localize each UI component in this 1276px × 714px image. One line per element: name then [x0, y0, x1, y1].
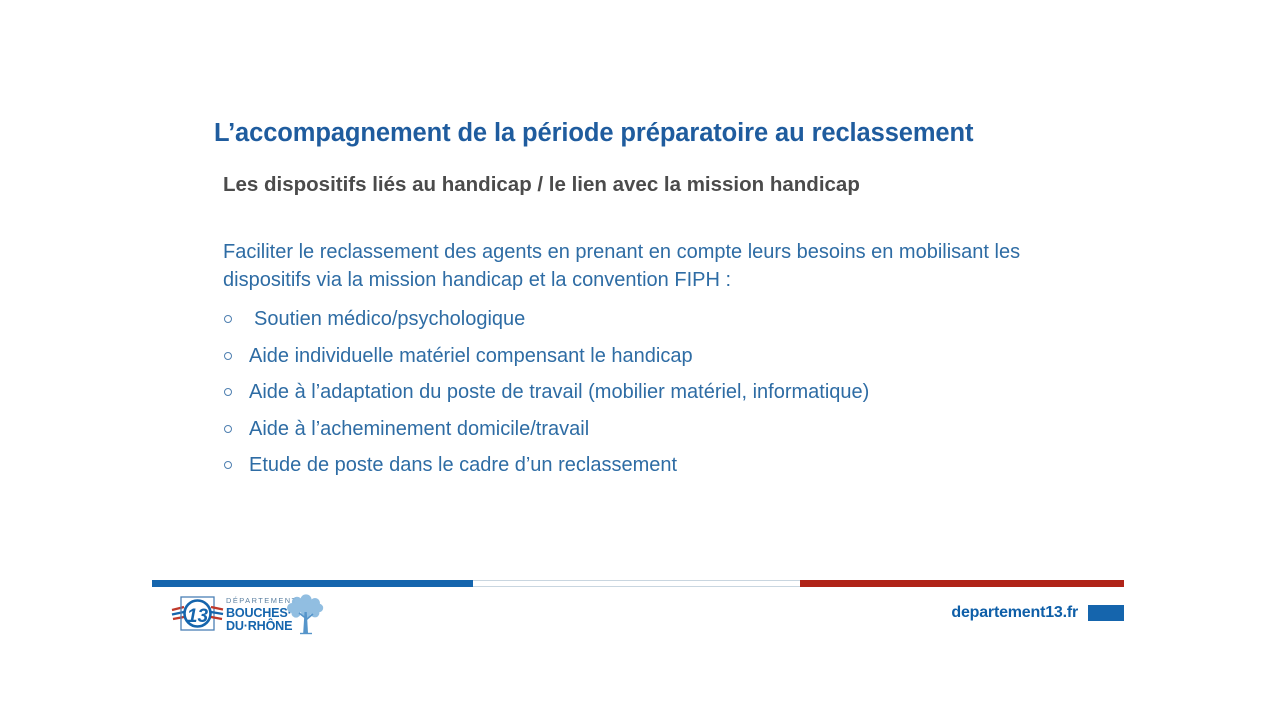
list-item-label: Etude de poste dans le cadre d’un reclas… [249, 455, 677, 475]
page-subtitle: Les dispositifs liés au handicap / le li… [223, 173, 1103, 197]
list-item-label: Aide à l’adaptation du poste de travail … [249, 382, 869, 402]
list-item: Etude de poste dans le cadre d’un reclas… [223, 447, 1123, 484]
list-item-label: Aide à l’acheminement domicile/travail [249, 419, 589, 439]
website-footer[interactable]: departement13.fr [951, 604, 1124, 622]
logo-line3: DU·RHÔNE [226, 618, 292, 633]
logo-number: 13 [187, 606, 209, 627]
list-item: Aide à l’acheminement domicile/travail [223, 411, 1123, 448]
circle-bullet-icon [224, 352, 232, 360]
list-item-label: Soutien médico/psychologique [249, 309, 525, 329]
logo-line2: BOUCHES· [226, 606, 292, 620]
tree-icon [287, 594, 323, 633]
departement-logo: 13 DÉPARTEMENT BOUCHES· DU·RHÔNE [170, 592, 330, 636]
list-item: Aide individuelle matériel compensant le… [223, 338, 1123, 375]
page-title: L’accompagnement de la période préparato… [214, 119, 1094, 148]
circle-bullet-icon [224, 425, 232, 433]
tricolor-blue-segment [152, 580, 473, 587]
circle-bullet-icon [224, 315, 232, 323]
tricolor-divider [152, 580, 1124, 587]
list-item-label: Aide individuelle matériel compensant le… [249, 346, 693, 366]
tricolor-white-segment [473, 580, 800, 587]
logo-line1: DÉPARTEMENT [226, 596, 298, 605]
lead-paragraph: Faciliter le reclassement des agents en … [223, 238, 1059, 295]
website-label[interactable]: departement13.fr [951, 604, 1078, 622]
ribbon-right-icon [211, 607, 223, 619]
slide-canvas: L’accompagnement de la période préparato… [0, 0, 1276, 714]
tricolor-red-segment [800, 580, 1124, 587]
bullet-list: Soutien médico/psychologique Aide indivi… [223, 301, 1123, 484]
website-badge-icon [1088, 605, 1124, 621]
circle-bullet-icon [224, 388, 232, 396]
ribbon-left-icon [172, 607, 184, 619]
list-item: Aide à l’adaptation du poste de travail … [223, 374, 1123, 411]
list-item: Soutien médico/psychologique [223, 301, 1123, 338]
circle-bullet-icon [224, 461, 232, 469]
